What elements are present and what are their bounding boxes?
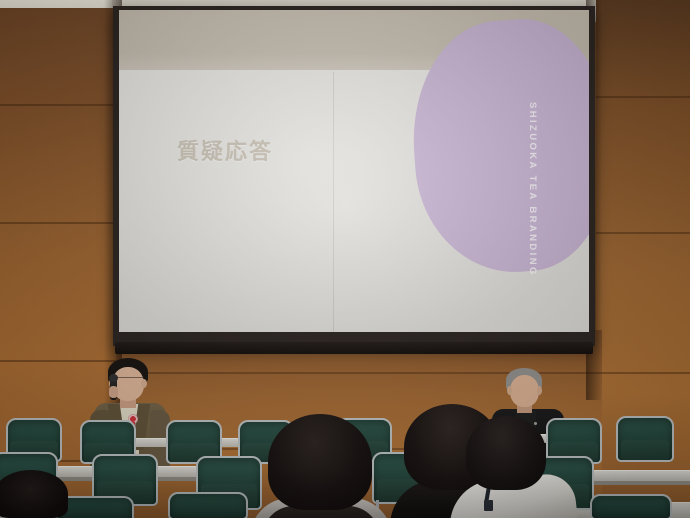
photo-scene: SHIZUOKA TEA BRANDING 質疑応答: [0, 0, 690, 518]
slide-title: 質疑応答: [177, 134, 273, 166]
projection-screen-surface: SHIZUOKA TEA BRANDING 質疑応答: [119, 10, 589, 332]
chair: [168, 492, 248, 518]
audience-3-head: [466, 416, 546, 490]
list-item: [268, 414, 372, 518]
badge-icon: [484, 500, 493, 511]
projection-screen-frame: SHIZUOKA TEA BRANDING 質疑応答: [113, 6, 595, 346]
slide-vertical-label: SHIZUOKA TEA BRANDING: [527, 102, 538, 277]
audience-1-head: [268, 414, 372, 510]
list-item: [0, 470, 68, 518]
chair: [616, 416, 674, 462]
list-item: [466, 416, 552, 518]
speaker-right-ear-left: [507, 386, 512, 395]
speaker-right-head: [510, 375, 539, 407]
audience-4-head: [0, 470, 68, 518]
microphone-head: [109, 374, 118, 382]
speaker-right-ear-right: [537, 386, 542, 395]
speaker-left-hand: [109, 386, 118, 398]
chair: [590, 494, 672, 518]
slide-screen-seam: [333, 72, 334, 332]
